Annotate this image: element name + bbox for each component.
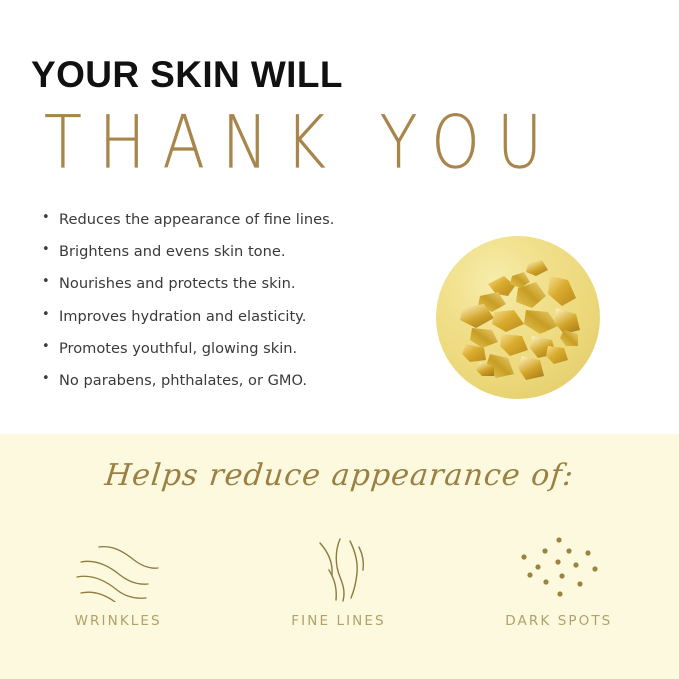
script-heading: Helps reduce appearance of: [0,458,679,493]
list-item: No parabens, phthalates, or GMO. [40,373,440,389]
infographic-page: YOUR SKIN WILL THANK YOU Reduces the app… [0,0,679,679]
dark-spots-dots-icon [512,529,606,611]
list-item: Nourishes and protects the skin. [40,276,440,292]
headline-primary: YOUR SKIN WILL [31,56,343,93]
gold-leaf-disc-icon [436,236,600,399]
feature-label: DARK SPOTS [505,613,612,629]
list-item: Promotes youthful, glowing skin. [40,341,440,357]
bottom-band: Helps reduce appearance of: WRINKLES [0,434,679,679]
top-section: YOUR SKIN WILL THANK YOU Reduces the app… [0,0,679,434]
feature-label: FINE LINES [291,613,385,629]
list-item: Improves hydration and elasticity. [40,309,440,325]
list-item: Brightens and evens skin tone. [40,244,440,260]
icon-row: WRINKLES FINE LINES [0,529,679,659]
product-image [436,236,600,399]
wrinkles-waves-icon [72,529,164,611]
feature-dark-spots: DARK SPOTS [449,529,669,659]
fine-lines-strokes-icon [307,529,369,611]
feature-fine-lines: FINE LINES [228,529,448,659]
feature-wrinkles: WRINKLES [8,529,228,659]
headline-secondary: THANK YOU [44,104,644,181]
feature-label: WRINKLES [75,613,162,629]
list-item: Reduces the appearance of fine lines. [40,212,440,228]
benefits-list: Reduces the appearance of fine lines. Br… [40,212,440,405]
